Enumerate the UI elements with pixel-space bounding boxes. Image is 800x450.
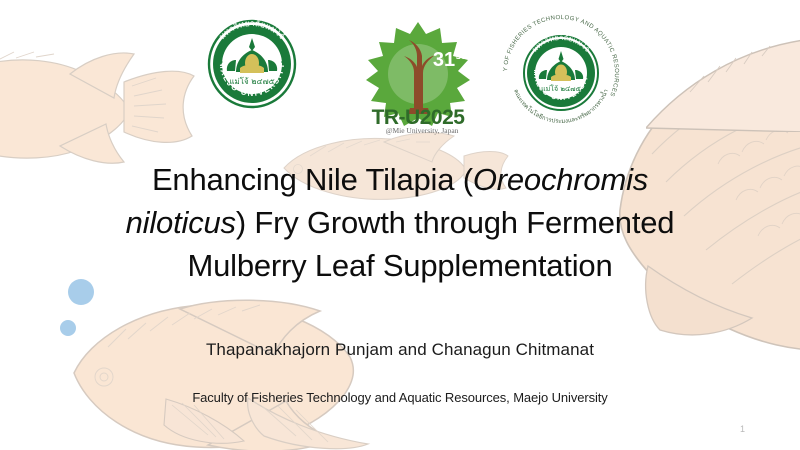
affiliation-line: Faculty of Fisheries Technology and Aqua… — [50, 390, 750, 405]
title-line-2-plain: ) Fry Growth through Fermented — [236, 205, 675, 240]
slide-number: 1 — [740, 424, 745, 434]
faculty-of-fisheries-logo: FACULTY OF FISHERIES TECHNOLOGY AND AQUA… — [500, 12, 622, 139]
svg-text:st: st — [456, 51, 466, 62]
title-line-1-plain: Enhancing Nile Tilapia ( — [152, 162, 473, 197]
author-list: Thapanakhajorn Punjam and Chanagun Chitm… — [50, 340, 750, 360]
logo-row: มหาวิทยาลัยแม่โจ้ MAEJO UNIVERSITY แม่โจ… — [0, 10, 800, 135]
maejo-university-logo: มหาวิทยาลัยแม่โจ้ MAEJO UNIVERSITY แม่โจ… — [198, 10, 306, 123]
title-species-genus: Oreochromis — [473, 162, 648, 197]
decorative-bubble-small — [60, 320, 76, 336]
slide-title: Enhancing Nile Tilapia (Oreochromis nilo… — [50, 158, 750, 287]
svg-text:@Mie University, Japan: @Mie University, Japan — [386, 126, 459, 135]
tru2025-conference-logo: 31 st TR-U2025 @Mie University, Japan — [352, 16, 484, 141]
title-species-epithet: niloticus — [126, 205, 236, 240]
svg-text:แม่โจ้ ๒๔๗๕: แม่โจ้ ๒๔๗๕ — [541, 84, 581, 93]
decorative-fish-bottom-left — [68, 295, 398, 450]
svg-text:แม่โจ้ ๒๔๗๕: แม่โจ้ ๒๔๗๕ — [229, 76, 274, 86]
presentation-slide: มหาวิทยาลัยแม่โจ้ MAEJO UNIVERSITY แม่โจ… — [0, 0, 800, 450]
title-line-3: Mulberry Leaf Supplementation — [187, 248, 612, 283]
svg-text:31: 31 — [433, 49, 455, 71]
